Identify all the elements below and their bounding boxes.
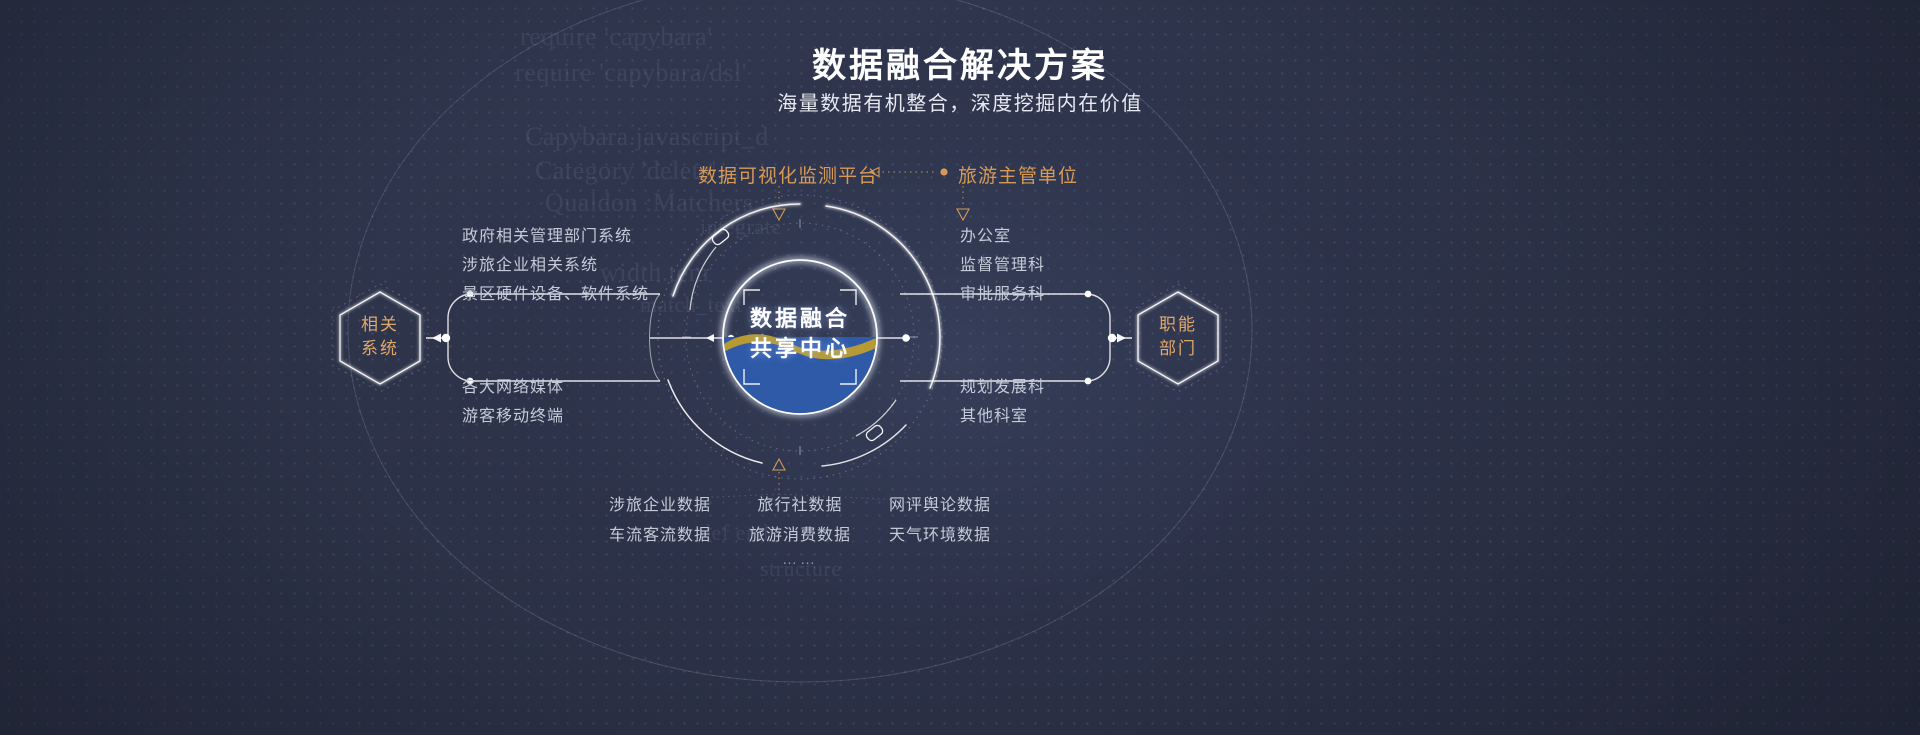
bottom-data-grid: 涉旅企业数据 旅行社数据 网评舆论数据 车流客流数据 旅游消费数据 天气环境数据 — [590, 491, 1010, 551]
list-item[interactable]: 审批服务科 — [960, 280, 1045, 309]
left-sources-top-list: 政府相关管理部门系统 涉旅企业相关系统 景区硬件设备、软件系统 — [462, 222, 649, 309]
hexagon-left-label-line2: 系统 — [320, 337, 440, 361]
grid-cell[interactable]: 旅游消费数据 — [730, 521, 870, 551]
hexagon-right-label[interactable]: 职能 部门 — [1118, 313, 1238, 361]
page-title: 数据融合解决方案 — [0, 38, 1920, 87]
grid-cell[interactable]: 旅行社数据 — [730, 491, 870, 521]
bottom-data-ellipsis: …… — [590, 551, 1010, 568]
ring-arc-br — [822, 425, 906, 466]
viz-down-arrow — [773, 209, 785, 220]
left-trunk-node — [442, 334, 450, 342]
list-item[interactable]: 政府相关管理部门系统 — [462, 222, 649, 251]
center-hub-line1: 数据融合 — [700, 304, 900, 334]
left-feeder-join — [650, 294, 661, 381]
center-hub-line2: 共享中心 — [700, 334, 900, 364]
list-item[interactable]: 景区硬件设备、软件系统 — [462, 280, 649, 309]
hexagon-left-label-line1: 相关 — [320, 313, 440, 337]
right-feeder-dot-bottom — [1085, 378, 1092, 385]
bottom-up-arrow — [773, 459, 785, 470]
ring-mid-arc-a — [690, 247, 716, 310]
ring-tick-upper-left — [711, 228, 731, 246]
grid-cell[interactable]: 天气环境数据 — [870, 521, 1010, 551]
table-row: 车流客流数据 旅游消费数据 天气环境数据 — [590, 521, 1010, 551]
right-departments-top-list: 办公室 监督管理科 审批服务科 — [960, 222, 1045, 309]
gov-down-arrow — [957, 209, 969, 220]
ring-arc-tl — [673, 204, 800, 296]
ghost-line: Capybara.javascript_d — [525, 122, 769, 152]
grid-cell[interactable]: 网评舆论数据 — [870, 491, 1010, 521]
node-tourism-authority[interactable]: 旅游主管单位 — [958, 161, 1078, 188]
right-feeder-dot-top — [1085, 291, 1092, 298]
ring-arc-tl-glow — [673, 204, 800, 296]
hexagon-left-label[interactable]: 相关 系统 — [320, 313, 440, 361]
grid-cell[interactable]: 涉旅企业数据 — [590, 491, 730, 521]
list-item[interactable]: 各大网络媒体 — [462, 373, 564, 402]
hexagon-right-label-line2: 部门 — [1118, 337, 1238, 361]
infographic-canvas: require 'capybara' require 'capybara/dsl… — [0, 0, 1920, 735]
center-hub-label[interactable]: 数据融合 共享中心 — [700, 304, 900, 364]
top-right-dot — [940, 168, 947, 175]
ghost-line: integrate — [700, 214, 781, 240]
node-visualization-platform[interactable]: 数据可视化监测平台 — [698, 161, 878, 188]
ring-arc-bl — [668, 380, 762, 463]
right-marker-dot-1 — [902, 334, 910, 342]
list-item[interactable]: 监督管理科 — [960, 251, 1045, 280]
ghost-line: Category 'delete' — [535, 156, 717, 186]
page-subtitle: 海量数据有机整合，深度挖掘内在价值 — [0, 87, 1920, 116]
table-row: 涉旅企业数据 旅行社数据 网评舆论数据 — [590, 491, 1010, 521]
grid-cell[interactable]: 车流客流数据 — [590, 521, 730, 551]
ring-tick-lower-right — [865, 424, 885, 442]
ghost-line: Qualdon :Matchers — [545, 188, 754, 218]
right-departments-bottom-list: 规划发展科 其他科室 — [960, 373, 1045, 431]
ring-mid-arc-b — [856, 400, 896, 436]
list-item[interactable]: 办公室 — [960, 222, 1045, 251]
hexagon-right-label-line1: 职能 — [1118, 313, 1238, 337]
left-sources-bottom-list: 各大网络媒体 游客移动终端 — [462, 373, 564, 431]
list-item[interactable]: 其他科室 — [960, 402, 1045, 431]
list-item[interactable]: 涉旅企业相关系统 — [462, 251, 649, 280]
list-item[interactable]: 规划发展科 — [960, 373, 1045, 402]
right-trunk-node — [1108, 334, 1116, 342]
list-item[interactable]: 游客移动终端 — [462, 402, 564, 431]
